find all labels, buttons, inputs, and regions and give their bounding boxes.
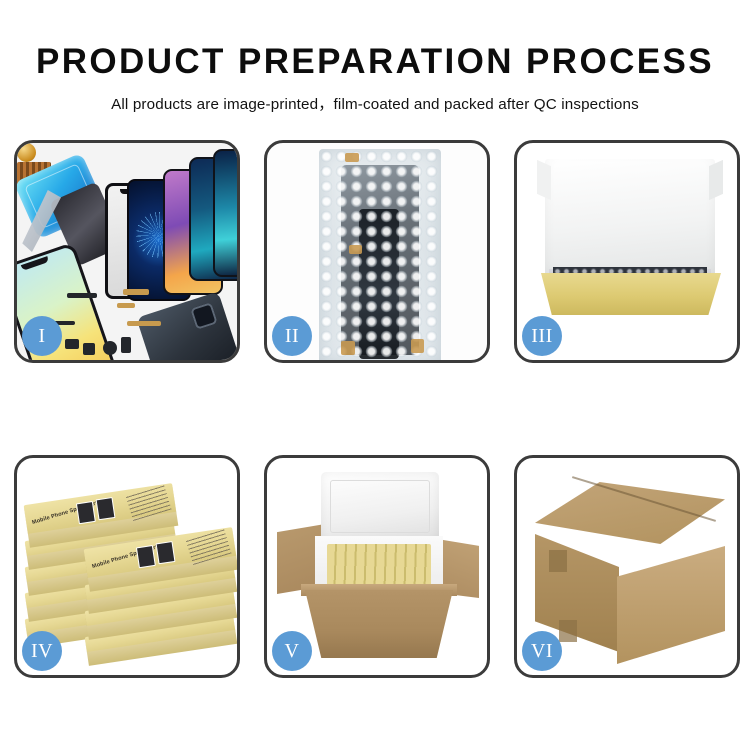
process-step-panel-4: Mobile Phone Spare Parts Mobile Phone Sp… <box>14 455 240 678</box>
kraft-tray-icon <box>541 273 721 315</box>
step-badge-2: II <box>272 316 312 356</box>
page-subtitle: All products are image-printed，film-coat… <box>0 81 750 114</box>
page-title: PRODUCT PREPARATION PROCESS <box>0 0 750 81</box>
tape-piece-mid-icon <box>349 245 362 254</box>
carton-tape-upper-icon <box>549 550 567 572</box>
tape-piece-top-icon <box>345 153 359 162</box>
process-steps-grid: I II <box>14 140 736 678</box>
carton-right-face-icon <box>617 546 725 664</box>
process-step-panel-5: V <box>264 455 490 678</box>
process-step-panel-6: VI <box>514 455 740 678</box>
carton-tape-lower-icon <box>559 620 577 642</box>
carton-body-icon <box>305 590 453 658</box>
header: PRODUCT PREPARATION PROCESS All products… <box>0 0 750 114</box>
foam-lid-icon <box>545 159 715 279</box>
box-window-icon <box>76 501 96 524</box>
tape-piece-bottom-right-icon <box>411 339 424 353</box>
box-window-icon <box>96 497 116 520</box>
step-badge-5: V <box>272 631 312 671</box>
process-step-panel-1: I <box>14 140 240 363</box>
process-step-panel-2: II <box>264 140 490 363</box>
flex-cable-gold-long-icon <box>127 321 161 326</box>
speaker-coil-icon <box>17 143 36 162</box>
bubble-texture-icon <box>319 149 441 360</box>
flex-cable-gold-icon <box>123 289 149 295</box>
flex-cable-gold-short-icon <box>117 303 135 308</box>
styrofoam-lid-icon <box>321 472 439 542</box>
step-badge-4: IV <box>22 631 62 671</box>
connector-icon <box>121 337 131 353</box>
box-window-icon <box>136 545 156 568</box>
vibration-motor-icon <box>103 341 117 355</box>
step-badge-3: III <box>522 316 562 356</box>
step-badge-1: I <box>22 316 62 356</box>
earpiece-mesh-icon <box>67 293 97 298</box>
product-preparation-process-infographic: PRODUCT PREPARATION PROCESS All products… <box>0 0 750 750</box>
carton-top-face-icon <box>535 482 725 544</box>
packed-boxes-icon <box>327 544 431 586</box>
camera-module-icon <box>83 343 95 355</box>
bubble-wrap-bag-icon <box>319 149 441 360</box>
box-window-icon <box>156 541 176 564</box>
small-part-icon <box>65 339 79 349</box>
step-badge-6: VI <box>522 631 562 671</box>
top-stacked-box-back: Mobile Phone Spare Parts <box>24 483 177 535</box>
process-step-panel-3: III <box>514 140 740 363</box>
tape-piece-bottom-left-icon <box>341 341 355 355</box>
screen-display-cyan-icon <box>213 149 237 277</box>
